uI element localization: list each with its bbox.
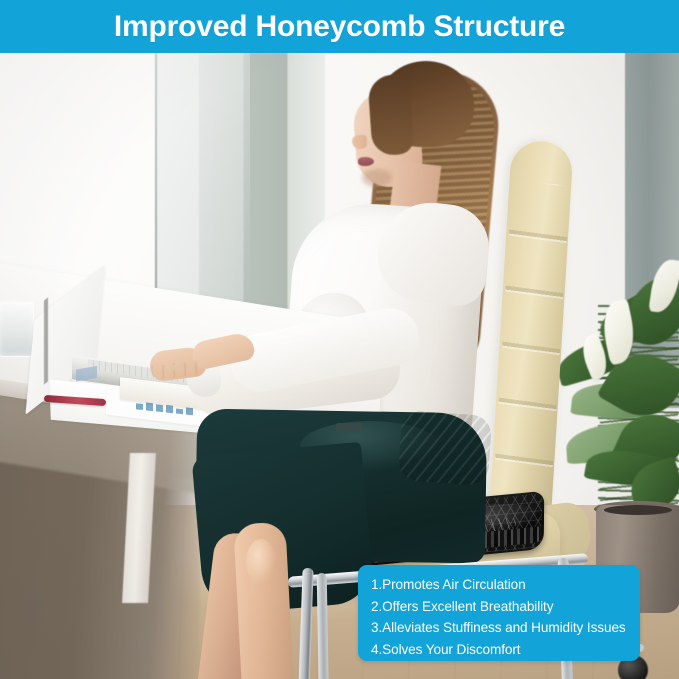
list-item: 4.Solves Your Discomfort: [371, 639, 640, 661]
laptop-screen-edge: [44, 297, 48, 384]
list-item: 3.Alleviates Stuffiness and Humidity Iss…: [371, 617, 640, 639]
skirt-waist-tag: [336, 423, 362, 432]
list-item: 2.Offers Excellent Breathability: [371, 596, 640, 618]
header-banner: Improved Honeycomb Structure: [0, 0, 679, 53]
hair-front-lock: [367, 74, 414, 157]
nose: [352, 135, 367, 149]
plant-pot-soil: [604, 505, 672, 515]
lips: [358, 157, 374, 166]
feature-bullet-list: 1.Promotes Air Circulation 2.Offers Exce…: [371, 574, 640, 660]
product-lifestyle-image: Improved Honeycomb Structure: [0, 0, 679, 679]
ring: [170, 365, 177, 370]
knee-highlight: [246, 539, 276, 585]
list-item: 1.Promotes Air Circulation: [371, 574, 640, 596]
feature-bullets-box: 1.Promotes Air Circulation 2.Offers Exce…: [358, 565, 640, 661]
chin-shadow: [362, 169, 392, 187]
water-glass: [0, 301, 34, 357]
page-title: Improved Honeycomb Structure: [114, 10, 565, 44]
skirt-folds: [398, 410, 493, 486]
